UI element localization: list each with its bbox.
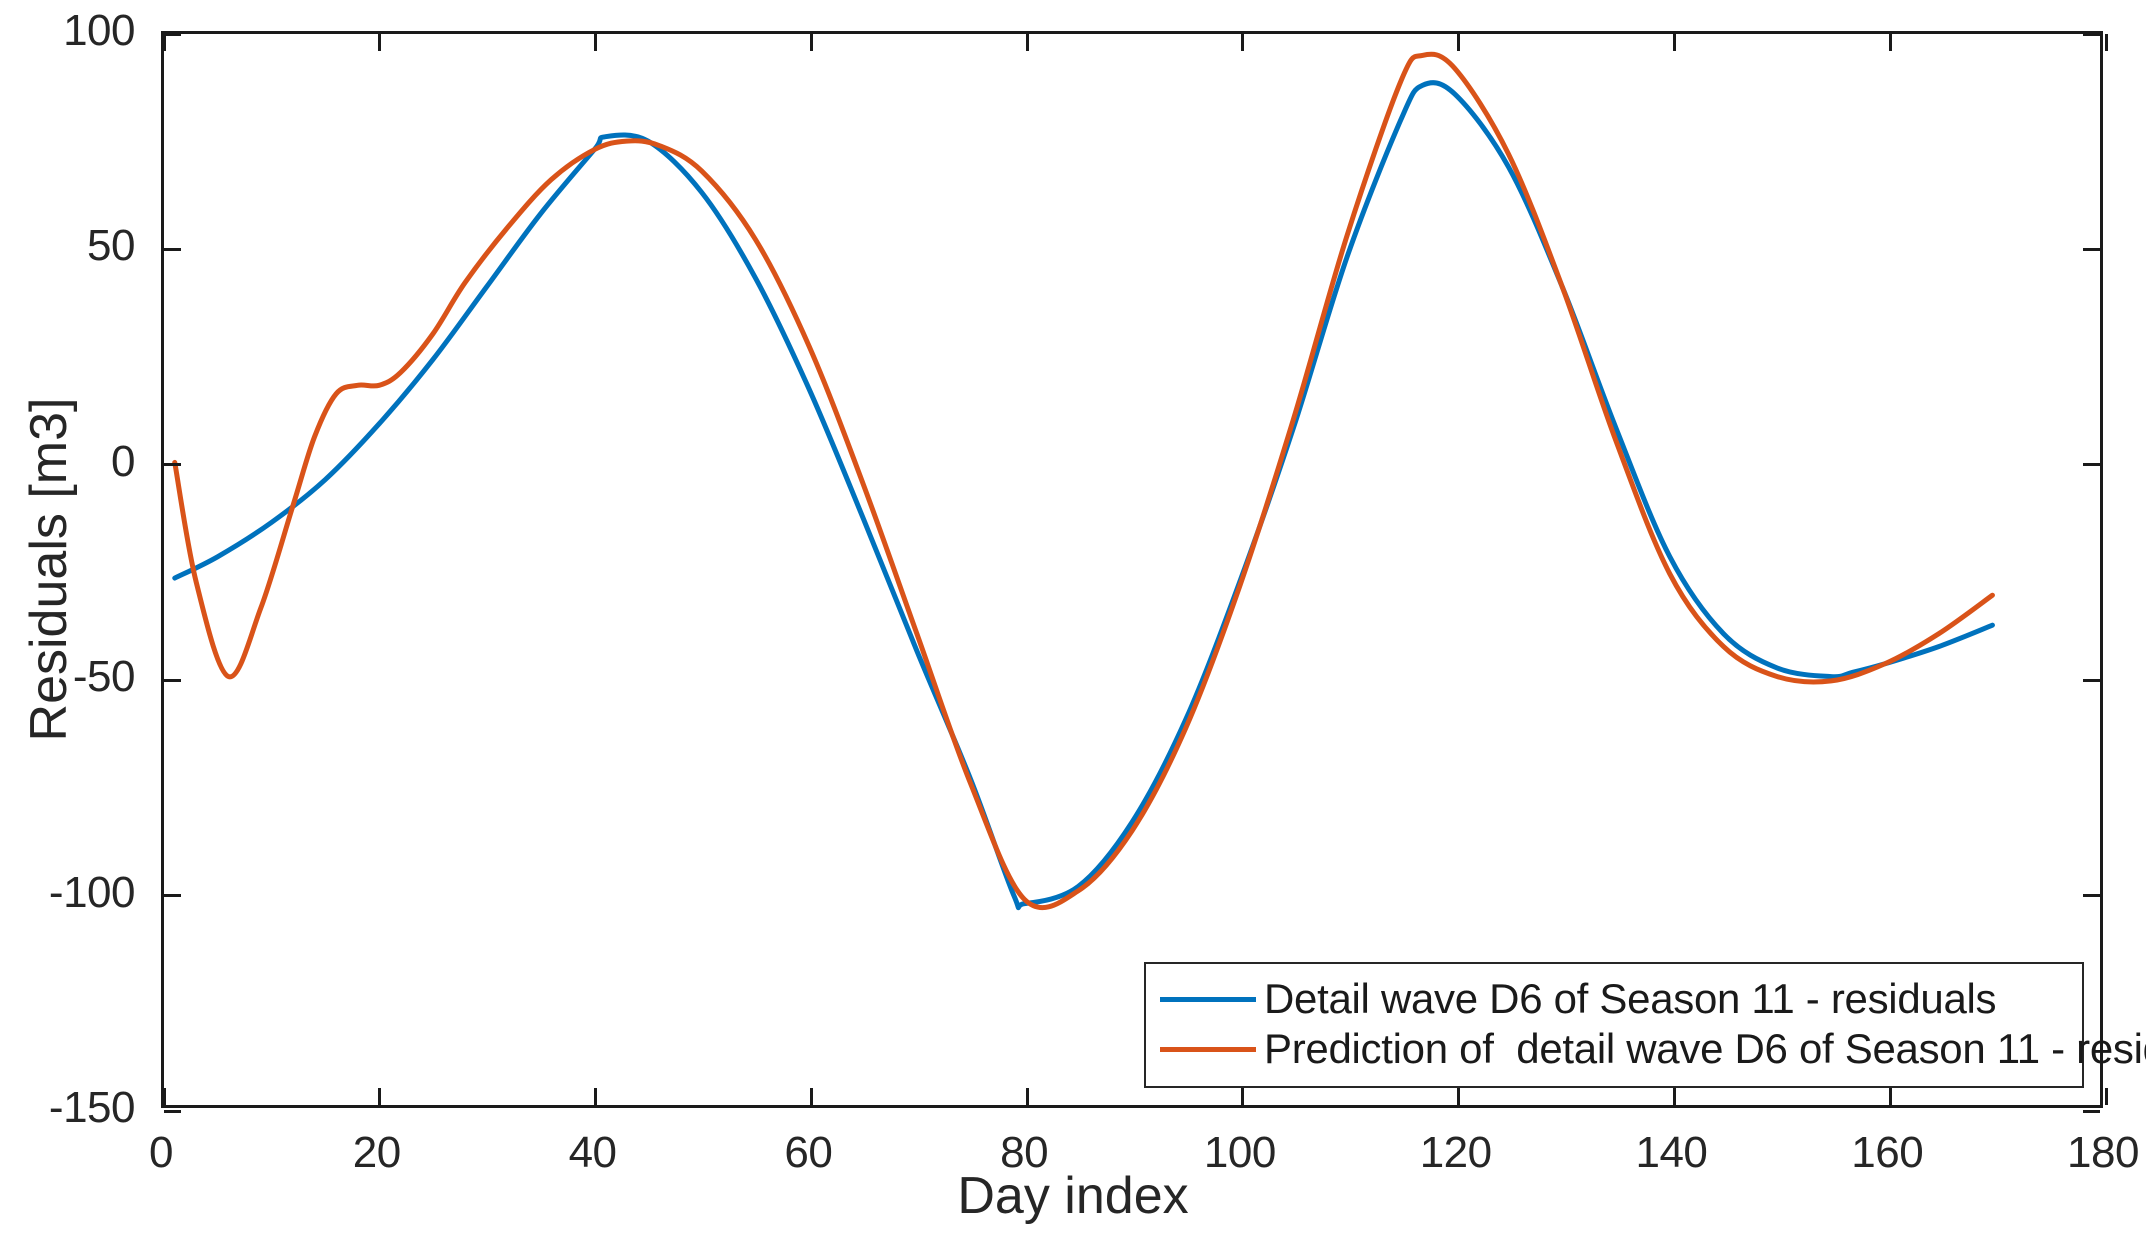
series-line-1 (175, 83, 1993, 908)
legend-line-swatch-series1 (1160, 997, 1256, 1002)
x-tick-0 (163, 1088, 166, 1105)
x-tick-0 (163, 34, 166, 51)
legend-label-series2: Prediction of detail wave D6 of Season 1… (1264, 1028, 2146, 1070)
y-axis-label: Residuals [m3] (18, 31, 80, 1108)
x-tick-40 (594, 1088, 597, 1105)
x-tick-180 (2105, 1088, 2108, 1105)
legend-box: Detail wave D6 of Season 11 - residuals … (1144, 962, 2084, 1088)
x-tick-160 (1889, 34, 1892, 51)
series-line-2 (175, 54, 1993, 907)
x-axis-label: Day index (0, 1166, 2146, 1226)
y-tick-50 (2083, 248, 2100, 251)
y-tick--50 (2083, 679, 2100, 682)
y-tick-100 (2083, 33, 2100, 36)
x-tick-100 (1241, 34, 1244, 51)
x-tick-80 (1026, 1088, 1029, 1105)
y-tick--150 (164, 1110, 181, 1113)
y-tick--50 (164, 679, 181, 682)
y-tick-100 (164, 33, 181, 36)
series-group (175, 54, 1993, 908)
x-tick-120 (1457, 1088, 1460, 1105)
x-tick-80 (1026, 34, 1029, 51)
legend-entry: Detail wave D6 of Season 11 - residuals (1160, 974, 2068, 1024)
y-tick--100 (164, 894, 181, 897)
x-tick-100 (1241, 1088, 1244, 1105)
legend-entry: Prediction of detail wave D6 of Season 1… (1160, 1024, 2068, 1074)
plot-area (161, 31, 2103, 1108)
y-tick--150 (2083, 1110, 2100, 1113)
y-tick--100 (2083, 894, 2100, 897)
x-tick-160 (1889, 1088, 1892, 1105)
x-tick-180 (2105, 34, 2108, 51)
x-tick-140 (1673, 1088, 1676, 1105)
x-tick-60 (810, 34, 813, 51)
legend-label-series1: Detail wave D6 of Season 11 - residuals (1264, 978, 1996, 1020)
y-tick-0 (164, 463, 181, 466)
x-tick-140 (1673, 34, 1676, 51)
legend-line-swatch-series2 (1160, 1047, 1256, 1052)
x-tick-20 (378, 1088, 381, 1105)
x-tick-60 (810, 1088, 813, 1105)
curves-svg (164, 34, 2100, 1105)
x-tick-40 (594, 34, 597, 51)
x-tick-20 (378, 34, 381, 51)
y-tick-0 (2083, 463, 2100, 466)
y-tick-50 (164, 248, 181, 251)
figure-canvas: 020406080100120140160180 -150-100-500501… (0, 0, 2146, 1244)
x-tick-120 (1457, 34, 1460, 51)
